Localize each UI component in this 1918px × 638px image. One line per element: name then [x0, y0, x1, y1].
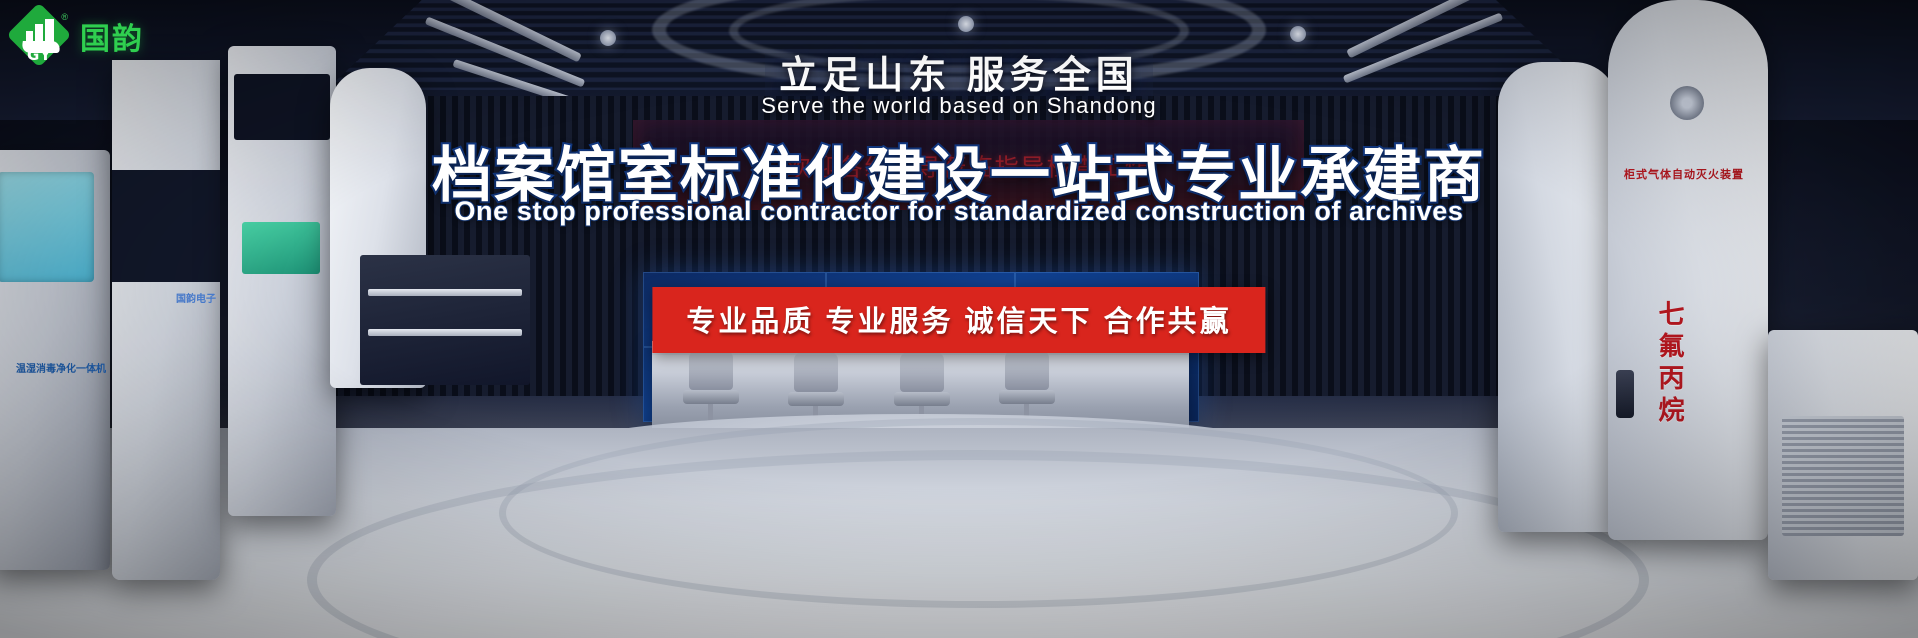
brand-name: 国韵 — [80, 14, 144, 58]
hero-subtitle-en: Serve the world based on Shandong — [0, 93, 1918, 119]
hero-banner: 欢迎各级领导莅临指导检查工作 — [0, 0, 1918, 638]
registered-mark: ® — [61, 12, 68, 22]
hero-title-en: One stop professional contractor for sta… — [0, 196, 1918, 227]
hero-subtitle-cn: 立足山东 服务全国 — [0, 44, 1918, 99]
hero-copy: 立足山东 服务全国 Serve the world based on Shand… — [0, 0, 1918, 638]
logo-initials: GY — [27, 46, 52, 64]
hero-slogan-ribbon: 专业品质 专业服务 诚信天下 合作共赢 — [652, 287, 1265, 353]
brand-logo[interactable]: GY ® 国韵 — [10, 6, 144, 66]
hero-slogan-text: 专业品质 专业服务 诚信天下 合作共赢 — [686, 306, 1231, 338]
building-diamond-logo-icon: GY ® — [10, 6, 70, 66]
